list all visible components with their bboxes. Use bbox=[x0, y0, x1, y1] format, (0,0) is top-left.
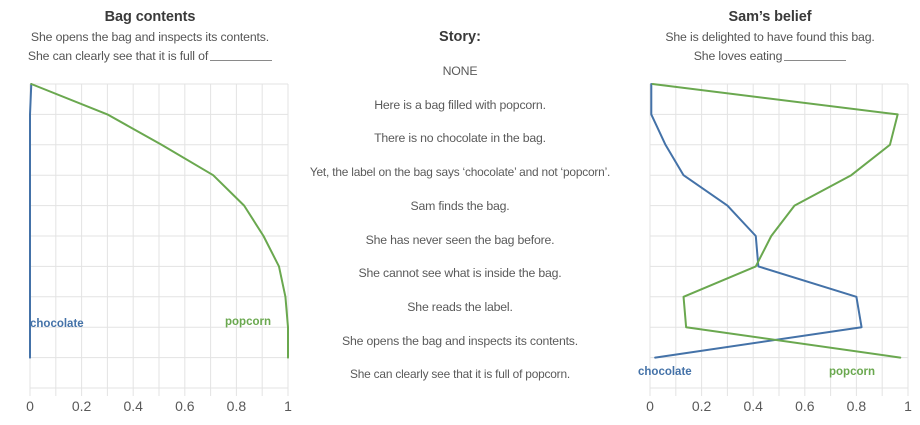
x-tick-label: 0 bbox=[646, 398, 654, 414]
x-tick-label: 0.4 bbox=[743, 398, 762, 414]
story-row: NONE bbox=[290, 64, 630, 79]
right-subtitle-text: She loves eating bbox=[694, 49, 783, 63]
story-row: She has never seen the bag before. bbox=[290, 233, 630, 248]
left-series-label-chocolate: chocolate bbox=[30, 318, 84, 330]
bag-contents-chart bbox=[0, 76, 300, 398]
left-series-label-popcorn: popcorn bbox=[225, 316, 271, 328]
story-row: Yet, the label on the bag says ‘chocolat… bbox=[282, 165, 638, 180]
story-row: She opens the bag and inspects its conte… bbox=[290, 334, 630, 349]
story-row: There is no chocolate in the bag. bbox=[290, 131, 630, 146]
x-tick-label: 1 bbox=[904, 398, 912, 414]
story-row: Here is a bag filled with popcorn. bbox=[290, 98, 630, 113]
right-blank-underline bbox=[784, 60, 846, 61]
story-title: Story: bbox=[290, 29, 630, 45]
bag-contents-panel: Bag contents She opens the bag and inspe… bbox=[0, 0, 300, 425]
story-row: She reads the label. bbox=[290, 300, 630, 315]
series-line-popcorn bbox=[653, 84, 901, 358]
story-row: Sam finds the bag. bbox=[290, 199, 630, 214]
series-line-chocolate bbox=[651, 84, 861, 358]
right-panel-subtitle-line2: She loves eating bbox=[620, 48, 920, 64]
x-tick-label: 0.4 bbox=[123, 398, 142, 414]
x-tick-label: 0.6 bbox=[795, 398, 814, 414]
series-line-chocolate bbox=[30, 84, 31, 358]
left-panel-title: Bag contents bbox=[0, 9, 300, 26]
story-column: Story: NONEHere is a bag filled with pop… bbox=[290, 0, 630, 425]
left-panel-subtitle-line2: She can clearly see that it is full of bbox=[0, 48, 300, 64]
sams-belief-x-axis: 00.20.40.60.81 bbox=[620, 398, 920, 420]
left-subtitle-text: She can clearly see that it is full of bbox=[28, 49, 208, 63]
right-panel-title: Sam’s belief bbox=[620, 9, 920, 26]
x-tick-label: 0.8 bbox=[847, 398, 866, 414]
x-tick-label: 0.6 bbox=[175, 398, 194, 414]
x-tick-label: 0.8 bbox=[227, 398, 246, 414]
slide-root: Bag contents She opens the bag and inspe… bbox=[0, 0, 920, 425]
x-tick-label: 0.2 bbox=[72, 398, 91, 414]
story-row: She can clearly see that it is full of p… bbox=[282, 367, 638, 382]
right-series-label-popcorn: popcorn bbox=[829, 366, 875, 378]
left-panel-subtitle-line1: She opens the bag and inspects its conte… bbox=[0, 29, 300, 45]
right-series-label-chocolate: chocolate bbox=[638, 366, 692, 378]
story-row: She cannot see what is inside the bag. bbox=[290, 266, 630, 281]
x-tick-label: 0.2 bbox=[692, 398, 711, 414]
x-tick-label: 0 bbox=[26, 398, 34, 414]
left-blank-underline bbox=[210, 60, 272, 61]
sams-belief-panel: Sam’s belief She is delighted to have fo… bbox=[620, 0, 920, 425]
right-panel-subtitle-line1: She is delighted to have found this bag. bbox=[620, 29, 920, 45]
sams-belief-chart bbox=[620, 76, 920, 398]
bag-contents-x-axis: 00.20.40.60.81 bbox=[0, 398, 300, 420]
